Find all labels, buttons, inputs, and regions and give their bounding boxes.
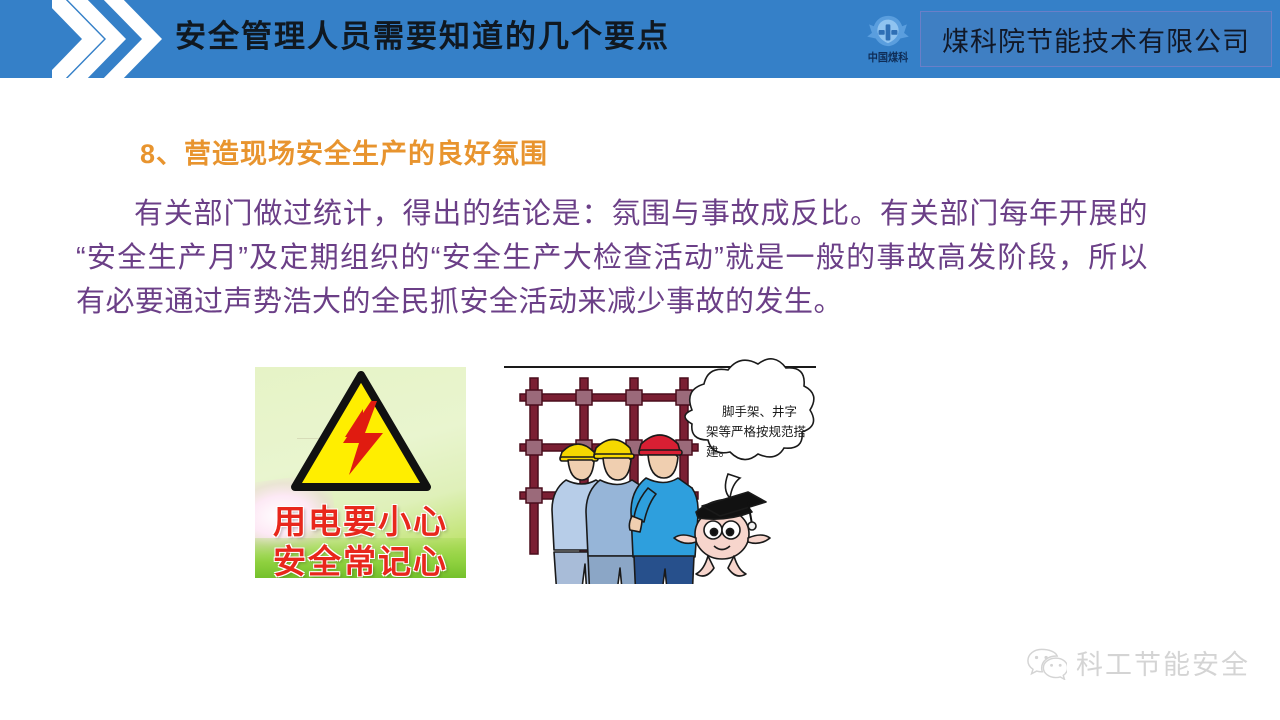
brand-logo: 中国煤科 — [862, 8, 914, 70]
speech-bubble-line-2: 架等严格按规范搭 — [706, 424, 807, 439]
worker-figure-3 — [629, 435, 699, 584]
speech-bubble-line-3: 建。 — [706, 445, 731, 459]
china-coal-emblem-icon — [867, 14, 909, 48]
wechat-icon — [1027, 646, 1067, 680]
scaffolding-safety-cartoon: 脚手架、井字 架等严格按规范搭 建。 — [500, 356, 820, 584]
high-voltage-warning-triangle-icon — [291, 371, 431, 493]
body-paragraph: 有关部门做过统计，得出的结论是：氛围与事故成反比。有关部门每年开展的“安全生产月… — [76, 192, 1148, 324]
section-subheading: 8、营造现场安全生产的良好氛围 — [140, 132, 548, 171]
slide-header: 安全管理人员需要知道的几个要点 中国煤科 煤科院节能技术有限公司 — [0, 0, 1280, 78]
brand-logo-label: 中国煤科 — [868, 49, 908, 65]
wechat-watermark: 科工节能安全 — [1027, 643, 1250, 682]
page-title: 安全管理人员需要知道的几个要点 — [175, 14, 670, 60]
double-chevron-right-icon — [52, 0, 172, 78]
watermark-label: 科工节能安全 — [1076, 643, 1250, 682]
speech-bubble-line-1: 脚手架、井字 — [722, 404, 797, 419]
brand-block: 中国煤科 煤科院节能技术有限公司 — [862, 4, 1272, 74]
poster-line-2: 安全常记心 — [255, 535, 466, 578]
slide: 安全管理人员需要知道的几个要点 中国煤科 煤科院节能技术有限公司 8、营造现场安… — [0, 0, 1280, 720]
company-name: 煤科院节能技术有限公司 — [942, 20, 1250, 59]
company-name-box: 煤科院节能技术有限公司 — [920, 11, 1272, 67]
electrical-safety-poster: 用电要小心 安全常记心 — [255, 367, 466, 578]
